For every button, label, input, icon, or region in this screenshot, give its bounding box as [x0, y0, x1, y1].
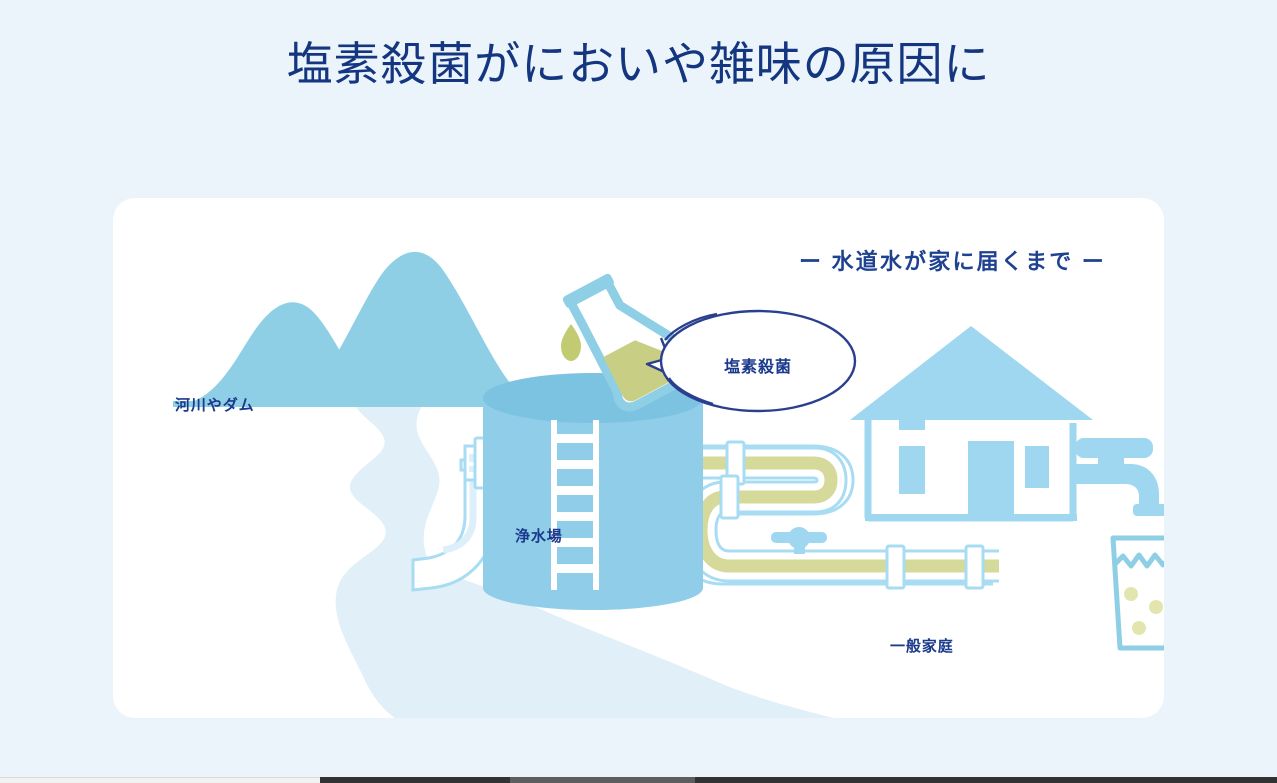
- bottom-bar-segment-mid: [510, 777, 695, 783]
- illustration-stage: ー 水道水が家に届くまで ー 河川やダム 浄水場 一般家庭 塩素殺菌: [113, 198, 1164, 718]
- label-household: 一般家庭: [890, 635, 954, 656]
- water-tank: [483, 373, 703, 610]
- water-glass-icon: [1113, 538, 1164, 648]
- house-icon: [850, 326, 1093, 521]
- illustration-subtitle: ー 水道水が家に届くまで ー: [799, 244, 1106, 276]
- bottom-bar-segment-light: [0, 777, 320, 783]
- bottom-cutoff-bar: [0, 777, 1277, 783]
- page-title: 塩素殺菌がにおいや雑味の原因に: [0, 36, 1277, 94]
- bottom-bar-segment-dark-2: [695, 777, 1277, 783]
- faucet-icon: [1075, 438, 1164, 516]
- chlorine-droplet: [561, 324, 581, 361]
- label-river-and-dam: 河川やダム: [175, 394, 255, 415]
- callout-bubble-label: 塩素殺菌: [688, 353, 828, 377]
- label-purification-plant: 浄水場: [515, 525, 563, 546]
- mountain-shape: [173, 252, 535, 407]
- bottom-bar-segment-dark-1: [320, 777, 510, 783]
- water-flow-illustration: [113, 198, 1164, 718]
- illustration-card: ー 水道水が家に届くまで ー 河川やダム 浄水場 一般家庭 塩素殺菌: [113, 198, 1164, 718]
- page-root: 塩素殺菌がにおいや雑味の原因に: [0, 0, 1277, 783]
